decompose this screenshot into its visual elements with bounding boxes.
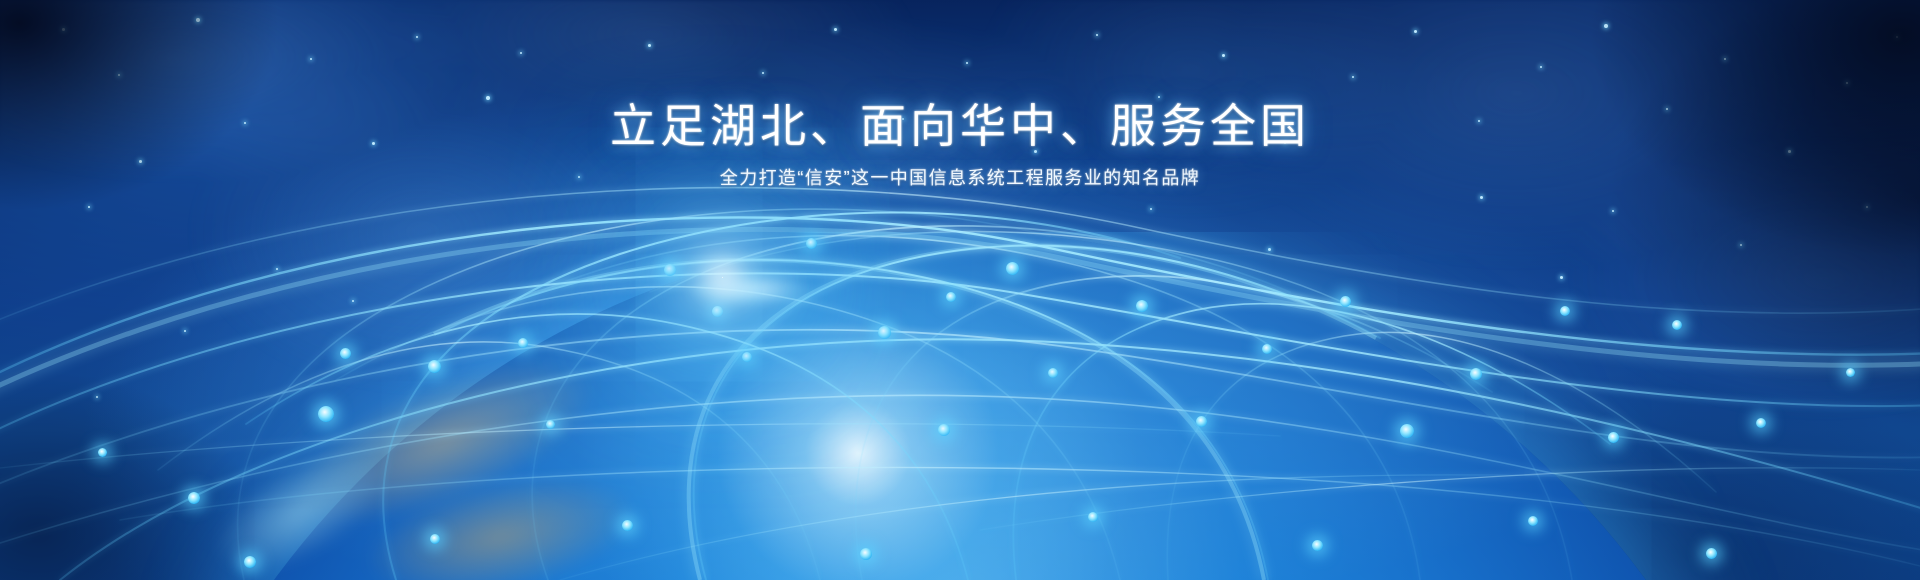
banner-subheadline: 全力打造“信安”这一中国信息系统工程服务业的知名品牌 — [0, 165, 1920, 191]
center-light-flare — [690, 272, 810, 306]
network-nodes — [0, 0, 1920, 580]
hero-banner: 立足湖北、面向华中、服务全国 全力打造“信安”这一中国信息系统工程服务业的知名品… — [0, 0, 1920, 580]
banner-headline: 立足湖北、面向华中、服务全国 — [0, 96, 1920, 156]
banner-copy: 立足湖北、面向华中、服务全国 全力打造“信安”这一中国信息系统工程服务业的知名品… — [0, 96, 1920, 191]
center-light-burst — [722, 277, 723, 278]
